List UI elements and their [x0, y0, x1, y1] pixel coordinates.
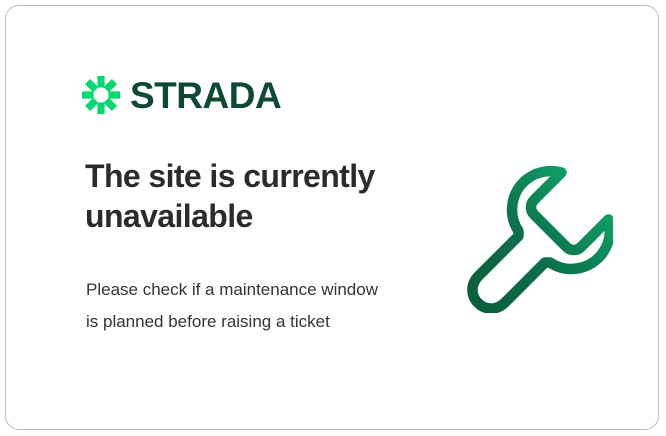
strada-asterisk-icon: [82, 76, 120, 114]
status-card: STRADA The site is currently unavailable…: [5, 5, 659, 430]
page-title: The site is currently unavailable: [85, 156, 415, 236]
wrench-icon: [461, 158, 613, 313]
brand-wordmark: STRADA: [130, 77, 281, 114]
page-description: Please check if a maintenance window is …: [86, 274, 386, 338]
brand-logo: STRADA: [82, 76, 281, 114]
